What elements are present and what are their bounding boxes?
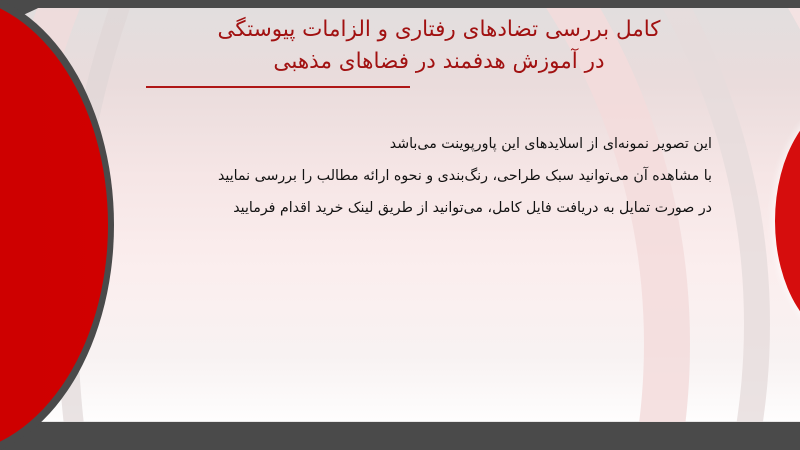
title-line-1: کامل بررسی تضادهای رفتاری و الزامات پیوس…: [138, 14, 740, 46]
right-red-oval: [775, 100, 800, 342]
slide-title: کامل بررسی تضادهای رفتاری و الزامات پیوس…: [138, 14, 740, 78]
title-underline: [146, 86, 410, 88]
body-line-3: در صورت تمایل به دریافت فایل کامل، می‌تو…: [218, 192, 712, 224]
slide-surface: کامل بررسی تضادهای رفتاری و الزامات پیوس…: [18, 8, 800, 432]
title-line-2: در آموزش هدفمند در فضاهای مذهبی: [138, 46, 740, 78]
slide-body: این تصویر نمونه‌ای از اسلایدهای این پاور…: [218, 128, 712, 224]
presentation-slide: کامل بررسی تضادهای رفتاری و الزامات پیوس…: [0, 0, 800, 450]
body-line-1: این تصویر نمونه‌ای از اسلایدهای این پاور…: [218, 128, 712, 160]
body-line-2: با مشاهده آن می‌توانید سبک طراحی، رنگ‌بن…: [218, 160, 712, 192]
